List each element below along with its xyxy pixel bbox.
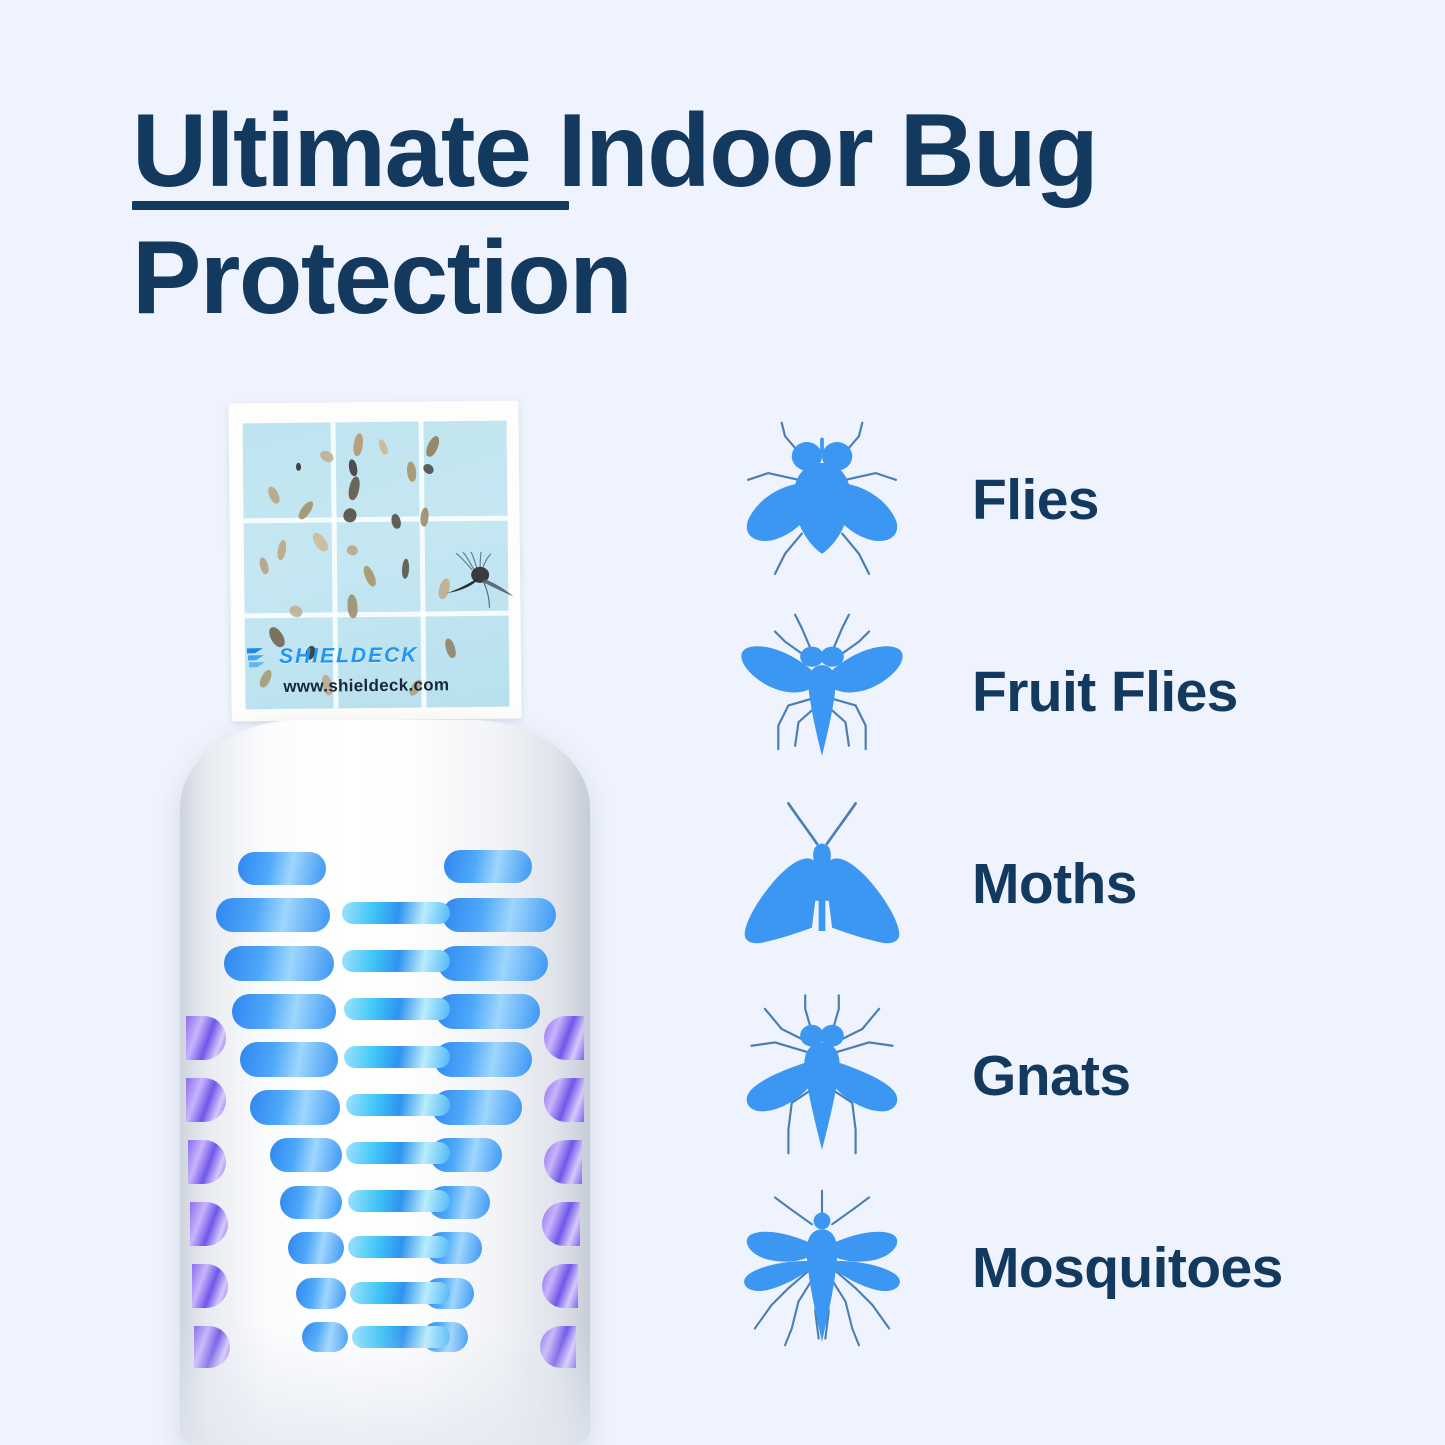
zapper-lamp-slit	[342, 950, 450, 972]
fly-icon	[738, 416, 906, 584]
pest-label: Gnats	[972, 1048, 1131, 1105]
zapper-lamp-slit	[350, 1282, 450, 1304]
zapper-side-glow-slot	[542, 1264, 578, 1308]
caught-insect	[277, 540, 288, 561]
moth-icon	[738, 800, 906, 968]
caught-insect	[310, 530, 331, 554]
pest-label: Fruit Flies	[972, 664, 1238, 721]
caught-insect	[377, 438, 389, 455]
zapper-side-glow-slot	[544, 1140, 582, 1184]
zapper-side-glow-slot	[194, 1326, 230, 1368]
caught-insect	[347, 476, 362, 502]
caught-insect	[257, 668, 273, 689]
glue-board-gridline	[245, 611, 509, 619]
page-title-line-2: Protection	[132, 215, 1252, 342]
zapper-vent-slot	[224, 946, 334, 981]
caught-insect	[352, 433, 364, 457]
caught-mosquito	[434, 549, 515, 612]
zapper-side-glow-slot	[188, 1140, 226, 1184]
list-item: Gnats	[738, 980, 1378, 1172]
zapper-vent-slot	[444, 850, 532, 883]
zapper-vent-slot	[232, 994, 336, 1029]
caught-insect	[346, 593, 358, 618]
zapper-lamp-slit	[352, 1326, 450, 1348]
zapper-lamp-slit	[346, 1094, 450, 1116]
zapper-vent-slot	[296, 1278, 346, 1309]
zapper-vent-slot	[436, 994, 540, 1029]
pest-type-list: Flies Fruit Flies	[738, 404, 1378, 1364]
caught-insect	[347, 459, 358, 477]
zapper-lamp-slit	[344, 998, 450, 1020]
shield-chevron-icon	[245, 645, 273, 669]
caught-insect	[402, 559, 410, 579]
caught-insect	[346, 544, 359, 557]
caught-insect	[266, 485, 282, 505]
brand-name: SHIELDECK	[279, 644, 419, 669]
list-item: Moths	[738, 788, 1378, 980]
list-item: Fruit Flies	[738, 596, 1378, 788]
zapper-vent-slot	[302, 1322, 348, 1352]
zapper-side-glow-slot	[540, 1326, 576, 1368]
pest-label: Moths	[972, 856, 1137, 913]
brand-url: www.shieldeck.com	[283, 675, 449, 697]
zapper-side-glow-slot	[542, 1202, 580, 1246]
zapper-vent-slot	[438, 946, 548, 981]
zapper-side-glow-slot	[186, 1078, 226, 1122]
zapper-vent-slot	[240, 1042, 338, 1077]
title-underline-rule	[132, 201, 569, 210]
zapper-vent-slot	[422, 1322, 468, 1352]
zapper-vent-slot	[216, 898, 330, 932]
pest-label: Flies	[972, 472, 1099, 529]
list-item: Flies	[738, 404, 1378, 596]
zapper-side-glow-slot	[192, 1264, 228, 1308]
caught-insect	[296, 463, 301, 471]
caught-insect	[420, 507, 430, 527]
caught-insect	[390, 512, 402, 529]
caught-insect	[258, 557, 270, 575]
gnat-icon	[738, 992, 906, 1160]
zapper-vent-slot	[250, 1090, 340, 1125]
brand-lockup: SHIELDECK	[245, 643, 501, 670]
zapper-side-glow-slot	[544, 1016, 584, 1060]
zapper-lamp-slit	[348, 1236, 450, 1258]
caught-insect	[424, 435, 442, 459]
zapper-housing	[180, 720, 590, 1445]
zapper-side-glow-slot	[190, 1202, 228, 1246]
zapper-vent-slot	[280, 1186, 342, 1219]
zapper-side-glow-slot	[186, 1016, 226, 1060]
product-infographic: Ultimate Indoor Bug Protection	[0, 0, 1445, 1445]
zapper-vent-slot	[238, 852, 326, 885]
caught-insect	[406, 461, 417, 482]
zapper-lamp-slit	[348, 1190, 450, 1212]
zapper-vent-slot	[270, 1138, 342, 1172]
zapper-side-glow-slot	[544, 1078, 584, 1122]
fruit-fly-icon	[738, 608, 906, 776]
zapper-vent-slot	[288, 1232, 344, 1264]
mosquito-icon	[738, 1184, 906, 1352]
product-image: SHIELDECK www.shieldeck.com	[150, 398, 620, 1445]
zapper-vent-slot	[442, 898, 556, 932]
glue-board-gridline	[244, 516, 508, 524]
zapper-lamp-slit	[342, 902, 450, 924]
zapper-lamp-slit	[344, 1046, 450, 1068]
pest-label: Mosquitoes	[972, 1240, 1283, 1297]
zapper-lamp-slit	[346, 1142, 450, 1164]
page-title-line-1: Ultimate Indoor Bug	[132, 88, 1252, 215]
glue-board-card: SHIELDECK www.shieldeck.com	[228, 400, 521, 721]
caught-insect	[362, 564, 379, 588]
list-item: Mosquitoes	[738, 1172, 1378, 1364]
bug-zapper-device	[180, 720, 590, 1445]
page-title: Ultimate Indoor Bug Protection	[132, 88, 1252, 342]
